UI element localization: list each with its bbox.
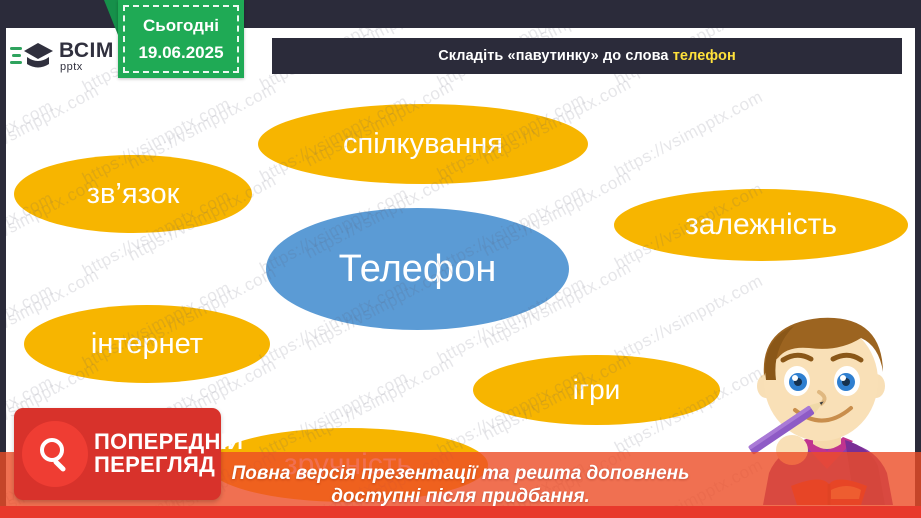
date-badge: Сьогодні 19.06.2025 [118, 0, 244, 78]
page-title: Складіть «павутинку» до слова телефон [438, 48, 736, 64]
title-accent-word: телефон [673, 48, 736, 64]
logo-text: ВСІМ pptx [59, 40, 114, 73]
bubble-zalezhnist[interactable]: залежність [614, 189, 908, 261]
title-text: Складіть «павутинку» до слова [438, 48, 673, 64]
logo-name: ВСІМ [59, 40, 114, 61]
preview-badge[interactable]: ПОПЕРЕДНІЙ ПЕРЕГЛЯД [14, 408, 221, 500]
preview-line-2: ПЕРЕГЛЯД [94, 454, 243, 477]
bubble-label: спілкування [343, 130, 503, 159]
bubble-telefon-center[interactable]: Телефон [266, 208, 569, 330]
bubble-label: ігри [573, 376, 621, 404]
purchase-notice-line-1: Повна версія презентації та решта доповн… [232, 462, 690, 485]
magnifier-icon [22, 421, 88, 487]
logo-subtitle: pptx [60, 62, 114, 73]
date-badge-value: 19.06.2025 [138, 43, 223, 63]
bubble-internet[interactable]: інтернет [24, 305, 270, 383]
date-badge-label: Сьогодні [143, 16, 219, 36]
preview-badge-text: ПОПЕРЕДНІЙ ПЕРЕГЛЯД [94, 431, 243, 477]
bubble-label: залежність [685, 210, 837, 240]
bubble-zvyazok[interactable]: зв’язок [14, 155, 252, 233]
bubble-label: Телефон [339, 250, 497, 288]
presentation-slide: зв’язок спілкування залежність Телефон і… [0, 0, 921, 518]
purchase-notice-line-2: доступні після придбання. [331, 485, 590, 508]
vsim-pptx-logo[interactable]: ВСІМ pptx [10, 30, 122, 82]
preview-line-1: ПОПЕРЕДНІЙ [94, 431, 243, 454]
slide-title-banner: Складіть «павутинку» до слова телефон [272, 38, 902, 74]
frame-left-edge [0, 0, 6, 518]
bubble-label: зв’язок [87, 180, 180, 209]
bubble-spilkuvannya[interactable]: спілкування [258, 104, 588, 184]
bubble-igry[interactable]: ігри [473, 355, 720, 425]
frame-right-edge [915, 0, 921, 518]
bottom-red-strip [0, 506, 921, 518]
bubble-label: інтернет [91, 330, 203, 359]
graduation-cap-icon [10, 39, 54, 73]
